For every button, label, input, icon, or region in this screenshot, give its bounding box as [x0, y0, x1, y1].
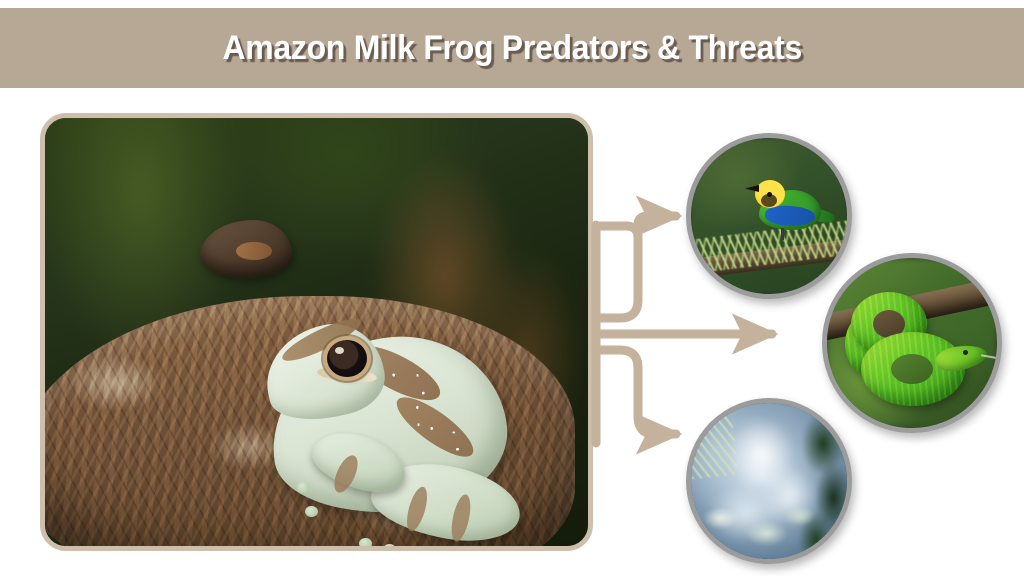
deforestation-photo	[691, 403, 847, 559]
amazon-milk-frog	[241, 316, 531, 546]
infographic-page: Amazon Milk Frog Predators & Threats	[0, 0, 1024, 576]
threat-circle-snake	[822, 253, 1002, 433]
arrow-bird-join	[600, 300, 638, 318]
snake-coil-b-gap	[891, 354, 933, 384]
arrow-to-deforestation	[638, 416, 676, 434]
arrow-to-forest-stem	[600, 350, 638, 416]
undergrowth	[697, 495, 817, 553]
frog-toe-3	[359, 538, 372, 546]
snake-eye	[963, 350, 968, 355]
bird-eye	[767, 192, 772, 197]
frog-toe-2	[305, 506, 318, 517]
arrow-to-bird	[638, 216, 676, 234]
frog-toe-4	[383, 544, 396, 546]
main-frog-photo	[40, 113, 593, 551]
page-title: Amazon Milk Frog Predators & Threats	[222, 29, 801, 68]
snake-photo	[827, 258, 997, 428]
bird-legs	[781, 228, 784, 240]
threat-circle-deforestation	[686, 398, 852, 564]
frog-eye	[327, 340, 367, 377]
main-frog-photo-canvas	[45, 118, 588, 546]
frog-toe-1	[297, 482, 310, 493]
arrow-to-bird-elbow	[596, 226, 638, 238]
bird-head	[755, 180, 785, 208]
title-banner: Amazon Milk Frog Predators & Threats	[0, 8, 1024, 88]
tanager-bird	[751, 176, 833, 238]
bird-photo	[691, 138, 847, 294]
